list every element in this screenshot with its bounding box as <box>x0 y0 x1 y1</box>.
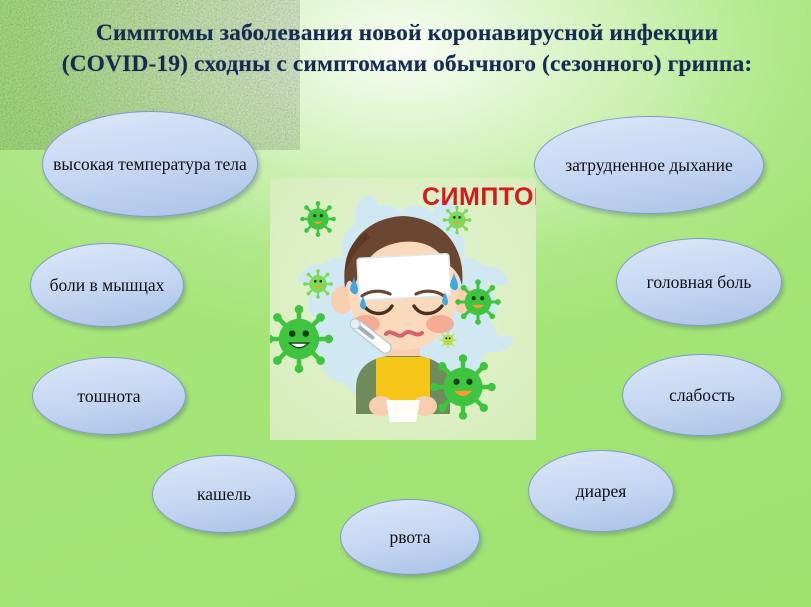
symptom-label: головная боль <box>624 271 775 293</box>
picture-caption: СИМПТОМЫ: <box>422 183 536 211</box>
symptom-bubble-breath[interactable]: затрудненное дыхание <box>534 116 764 214</box>
tissue <box>386 400 420 422</box>
symptom-bubble-diarrhea[interactable]: диарея <box>528 450 674 532</box>
symptom-bubble-muscle-pain[interactable]: боли в мышцах <box>30 243 184 327</box>
symptom-bubble-fever[interactable]: высокая температура тела <box>42 111 258 217</box>
symptom-label: затрудненное дыхание <box>544 154 754 176</box>
symptom-label: высокая температура тела <box>52 153 249 175</box>
symptom-label: боли в мышцах <box>37 274 177 296</box>
symptom-bubble-headache[interactable]: головная боль <box>616 238 782 326</box>
symptom-label: тошнота <box>39 385 179 407</box>
symptom-label: кашель <box>159 483 290 505</box>
symptom-bubble-vomiting[interactable]: рвота <box>340 499 480 575</box>
symptom-bubble-weakness[interactable]: слабость <box>622 354 782 436</box>
symptom-label: диарея <box>535 480 667 502</box>
symptom-bubble-cough[interactable]: кашель <box>152 455 296 533</box>
symptom-label: рвота <box>347 526 474 548</box>
slide-canvas: Симптомы заболевания новой коронавирусно… <box>0 0 811 607</box>
symptom-label: слабость <box>629 384 774 406</box>
sick-boy-illustration: СИМПТОМЫ: <box>270 178 536 440</box>
symptoms-illustration: СИМПТОМЫ: <box>270 178 536 440</box>
symptom-bubble-nausea[interactable]: тошнота <box>32 357 186 435</box>
slide-title: Симптомы заболевания новой коронавирусно… <box>52 18 762 80</box>
